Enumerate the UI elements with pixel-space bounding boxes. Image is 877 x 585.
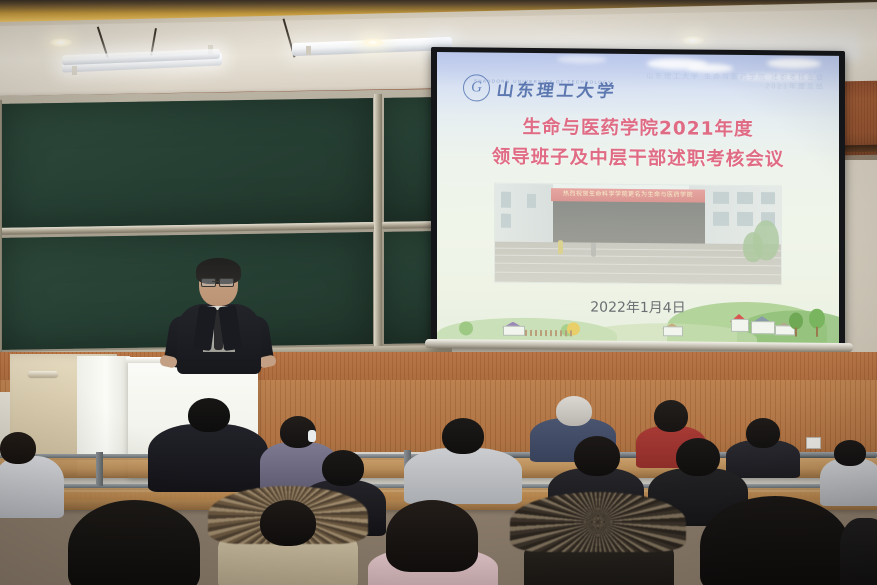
- attendee-head: [574, 436, 620, 476]
- house-body: [503, 325, 525, 336]
- chalkboard-panel-top-left: [1, 98, 373, 228]
- photo-step: [495, 248, 781, 252]
- speaker-glasses-right: [219, 278, 234, 287]
- slide-title-line1: 生命与医药学院2021年度: [437, 112, 839, 146]
- attendee-body: [840, 518, 877, 585]
- attendee-gray-jacket: [404, 418, 522, 496]
- photo-window: [737, 212, 753, 226]
- attendee-head: [68, 500, 200, 585]
- attendee-fur-hood-dark: [510, 492, 686, 585]
- photo-step: [495, 255, 781, 259]
- speaker-presenter: [163, 258, 275, 370]
- attendee-head: [386, 500, 478, 572]
- photo-step: [495, 272, 781, 276]
- attendee-left-silver-coat: [0, 432, 64, 512]
- attendee-head: [556, 396, 592, 426]
- attendee-head: [442, 418, 484, 454]
- photo-window: [501, 192, 511, 208]
- house-body: [663, 326, 683, 336]
- photo-window: [527, 194, 536, 208]
- photo-window: [761, 192, 775, 204]
- attendee-body: [0, 456, 64, 518]
- projection-screen: 山东理工大学 生命与医药学院 述职考核会议 2021年度总结 G 山东理工大学 …: [431, 47, 845, 350]
- attendee-pink-coat: [368, 500, 498, 585]
- attendee-body: [148, 424, 268, 492]
- photo-building-entrance: [553, 200, 705, 245]
- recessed-downlight: [362, 38, 384, 47]
- slide-title-line2: 领导班子及中层干部述职考核会议: [437, 142, 839, 176]
- face-mask: [308, 430, 316, 442]
- tree-trunk: [816, 327, 818, 337]
- photo-pedestrian: [558, 240, 563, 254]
- photo-pedestrian: [591, 243, 596, 257]
- cloud-decor: [767, 58, 821, 69]
- bench-post: [96, 452, 103, 486]
- attendee-head: [676, 438, 720, 476]
- house-gray-roof: [751, 316, 773, 334]
- attendee-head: [322, 450, 364, 486]
- photo-step: [495, 263, 781, 267]
- photo-red-banner: 热烈祝贺生命科学学院更名为生命与医药学院: [551, 188, 705, 202]
- cloud-decor: [687, 63, 733, 72]
- tree-trunk: [795, 327, 797, 336]
- attendee-front-dark: [148, 398, 268, 488]
- attendee-fur-hood-tan: [208, 486, 368, 585]
- slide-landscape-footer: [437, 295, 839, 345]
- fence: [525, 330, 573, 336]
- fur-hood-trim: [510, 492, 686, 552]
- attendee-head: [0, 432, 36, 464]
- photo-window: [713, 192, 729, 204]
- tree: [459, 321, 473, 335]
- house-red-roof: [731, 314, 747, 332]
- photo-window: [501, 214, 511, 228]
- lamp-stem: [306, 46, 311, 55]
- chalkboard-edge: [0, 100, 2, 352]
- attendee-body: [404, 448, 522, 504]
- slide-title: 生命与医药学院2021年度 领导班子及中层干部述职考核会议: [437, 112, 839, 176]
- photo-tree: [743, 232, 763, 262]
- console-handle: [28, 371, 58, 377]
- house-yurt: [663, 323, 681, 336]
- photo-window: [737, 192, 753, 204]
- attendee-head: [260, 500, 316, 546]
- attendee-right-gray: [820, 440, 877, 502]
- lamp-stem: [72, 66, 77, 75]
- photo-plaza: [495, 242, 781, 285]
- attendee-front-right-head: [700, 496, 850, 585]
- cloud-decor: [557, 55, 607, 63]
- attendee-front-left-head: [68, 500, 200, 585]
- wall-outlet: [806, 437, 821, 449]
- lecture-hall-photo: 山东理工大学 生命与医药学院 述职考核会议 2021年度总结 G 山东理工大学 …: [0, 0, 877, 585]
- attendee-head: [746, 418, 780, 448]
- house-purple-roof: [503, 322, 523, 336]
- speaker-glasses-left: [201, 278, 216, 287]
- attendee-far-right-edge: [840, 500, 877, 585]
- presentation-slide: 山东理工大学 生命与医药学院 述职考核会议 2021年度总结 G 山东理工大学 …: [437, 52, 839, 345]
- chalkboard-divider: [374, 94, 382, 346]
- recessed-downlight: [50, 38, 72, 47]
- attendee-head: [700, 496, 850, 585]
- photo-window: [713, 212, 729, 226]
- slide-building-photo: 热烈祝贺生命科学学院更名为生命与医药学院: [495, 184, 781, 285]
- house-body: [751, 321, 775, 334]
- attendee-head: [654, 400, 688, 432]
- attendee-head: [834, 440, 866, 466]
- house-body: [731, 319, 749, 332]
- speaker-glasses-bridge: [212, 281, 219, 282]
- attendee-head: [188, 398, 230, 432]
